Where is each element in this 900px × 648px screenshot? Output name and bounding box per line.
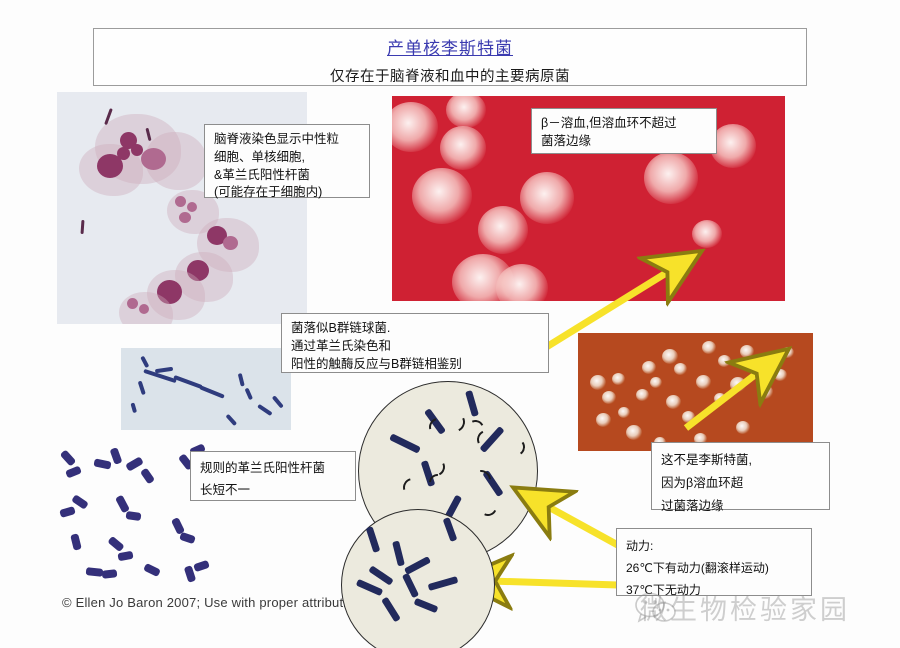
copyright-notice: © Ellen Jo Baron 2007; Use with proper a…: [62, 595, 361, 610]
callout-colony-resembles-gbs: 菌落似B群链球菌. 通过革兰氏染色和 阳性的触酶反应与B群链相鉴别: [281, 313, 549, 373]
callout-hemolysis-line-0: β－溶血,但溶血环不超过: [541, 115, 707, 133]
callout-not-listeria-line-0: 这不是李斯特菌,: [661, 449, 820, 472]
callout-beta-hemolysis: β－溶血,但溶血环不超过 菌落边缘: [531, 108, 717, 154]
callout-colony-line-2: 阳性的触酶反应与B群链相鉴别: [291, 356, 539, 374]
slide-canvas: 产单核李斯特菌 仅存在于脑脊液和血中的主要病原菌: [0, 0, 900, 648]
callout-colony-line-1: 通过革兰氏染色和: [291, 338, 539, 356]
callout-regular-gram-positive-rods: 规则的革兰氏阳性杆菌 长短不一: [190, 451, 356, 501]
callout-gram-rods-line-0: 规则的革兰氏阳性杆菌: [200, 458, 346, 480]
callout-csf-stain: 脑脊液染色显示中性粒 细胞、单核细胞, &革兰氏阳性杆菌 (可能存在于细胞内): [204, 124, 370, 198]
callout-csf-line-2: &革兰氏阳性杆菌: [214, 167, 360, 185]
callout-csf-line-0: 脑脊液染色显示中性粒: [214, 131, 360, 149]
callout-not-listeria-line-1: 因为β溶血环超: [661, 472, 820, 495]
callout-not-listeria-line-2: 过菌落边缘: [661, 495, 820, 518]
callout-not-listeria: 这不是李斯特菌, 因为β溶血环超 过菌落边缘: [651, 442, 830, 510]
callout-gram-rods-line-1: 长短不一: [200, 480, 346, 502]
callout-csf-line-1: 细胞、单核细胞,: [214, 149, 360, 167]
callout-csf-line-3: (可能存在于细胞内): [214, 184, 360, 202]
callout-motility-line-1: 26℃下有动力(翻滚样运动): [626, 557, 802, 579]
watermark-text: 微生物检验家园: [640, 588, 850, 627]
callout-motility: 动力: 26℃下有动力(翻滚样运动) 37℃下无动力: [616, 528, 812, 596]
callout-motility-line-0: 动力:: [626, 535, 802, 557]
callout-hemolysis-line-1: 菌落边缘: [541, 133, 707, 151]
callout-colony-line-0: 菌落似B群链球菌.: [291, 320, 539, 338]
motility-diagram-nonmotile: [341, 509, 495, 648]
